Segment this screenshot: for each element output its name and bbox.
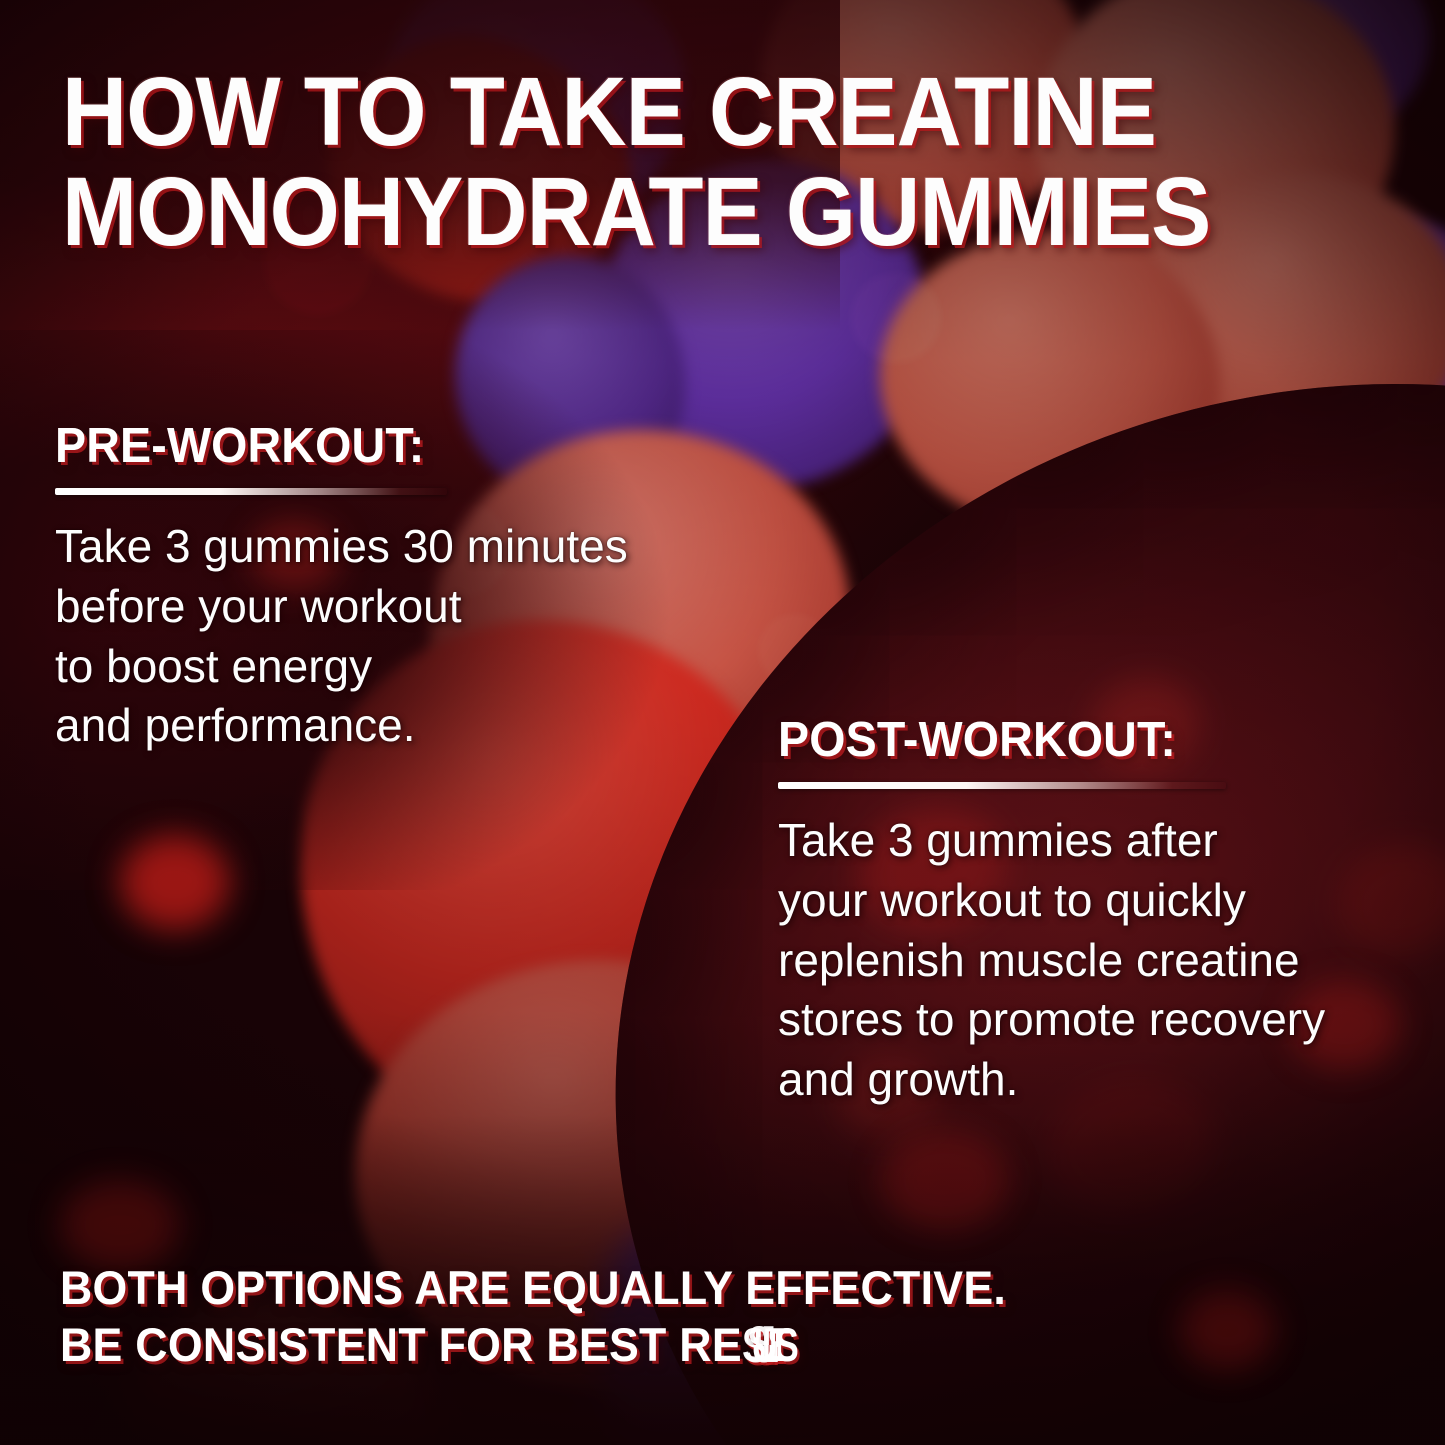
pre-workout-underline bbox=[55, 488, 447, 495]
page-title: HOW TO TAKE CREATINE MONOHYDRATE GUMMIES bbox=[62, 62, 1299, 262]
footer-glitched-word: SULTSSULTSSULTS bbox=[742, 1317, 795, 1373]
footer-note: BOTH OPTIONS ARE EQUALLY EFFECTIVE. BE C… bbox=[60, 1260, 1324, 1373]
headline-line-2: MONOHYDRATE GUMMIES bbox=[62, 162, 1299, 262]
headline-line-1: HOW TO TAKE CREATINE bbox=[62, 57, 1156, 166]
post-workout-body: Take 3 gummies after your workout to qui… bbox=[778, 811, 1428, 1110]
pre-workout-body: Take 3 gummies 30 minutes before your wo… bbox=[55, 517, 755, 756]
footer-line-2-prefix: BE CONSISTENT FOR BEST RE bbox=[60, 1318, 742, 1371]
footer-line-1: BOTH OPTIONS ARE EQUALLY EFFECTIVE. bbox=[60, 1260, 1324, 1316]
post-workout-section: POST-WORKOUT: Take 3 gummies after your … bbox=[778, 712, 1428, 1110]
infographic-poster: HOW TO TAKE CREATINE MONOHYDRATE GUMMIES… bbox=[0, 0, 1445, 1445]
post-workout-heading: POST-WORKOUT: bbox=[778, 712, 1396, 768]
content-layer: HOW TO TAKE CREATINE MONOHYDRATE GUMMIES… bbox=[0, 0, 1445, 1445]
footer-line-2: BE CONSISTENT FOR BEST RESULTSSULTSSULTS bbox=[60, 1317, 1324, 1373]
post-workout-underline bbox=[778, 782, 1226, 789]
pre-workout-heading: PRE-WORKOUT: bbox=[55, 418, 720, 474]
pre-workout-section: PRE-WORKOUT: Take 3 gummies 30 minutes b… bbox=[55, 418, 755, 756]
